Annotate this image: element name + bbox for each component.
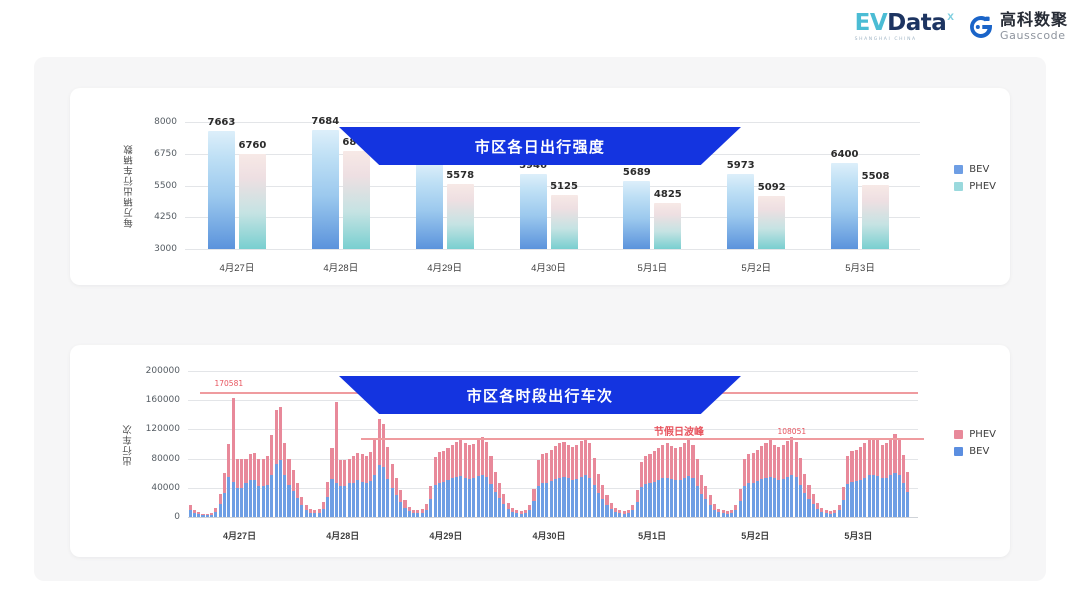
chart2-bar-segment-bev <box>399 502 402 517</box>
chart2-bar-segment-bev <box>292 491 295 517</box>
chart2-bar-segment-bev <box>249 480 252 517</box>
chart2-bar-segment-phev <box>846 456 849 484</box>
chart2-stacked-bar <box>640 462 643 517</box>
chart2-bar-segment-phev <box>876 440 879 476</box>
chart2-stacked-bar <box>760 446 763 517</box>
chart2-bar-segment-bev <box>442 482 445 517</box>
chart2-bar-segment-phev <box>906 472 909 492</box>
chart1-x-tick-label: 4月27日 <box>219 260 254 274</box>
chart2-bar-segment-phev <box>786 441 789 477</box>
chart2-bar-segment-bev <box>795 477 798 517</box>
chart1-bar-group: 76636760 <box>208 122 266 249</box>
chart2-stacked-bar <box>661 445 664 517</box>
chart2-stacked-bar <box>408 507 411 517</box>
chart2-bar-segment-bev <box>382 467 385 517</box>
chart2-bar-segment-bev <box>275 464 278 517</box>
chart2-bar-segment-bev <box>893 473 896 517</box>
chart2-stacked-bar <box>279 407 282 517</box>
chart2-bar-segment-phev <box>756 450 759 481</box>
chart2-bar-segment-phev <box>464 443 467 478</box>
chart2-stacked-bar <box>859 447 862 517</box>
chart2-stacked-bar <box>790 437 793 517</box>
chart2-bar-segment-bev <box>339 486 342 517</box>
chart2-bar-segment-bev <box>189 510 192 517</box>
chart2-bar-segment-phev <box>300 497 303 506</box>
chart2-stacked-bar <box>683 443 686 517</box>
chart2-bar-segment-bev <box>223 493 226 517</box>
chart2-bar-segment-phev <box>253 453 256 480</box>
chart2-stacked-bar <box>335 402 338 517</box>
chart2-bar-segment-phev <box>868 439 871 476</box>
chart2-bar-segment-phev <box>266 456 269 485</box>
chart1-bar-value-label: 5125 <box>550 181 578 192</box>
chart2-bar-segment-bev <box>550 481 553 517</box>
chart2-bar-segment-bev <box>489 484 492 517</box>
chart2-title-banner: 市区各时段出行车次 <box>339 376 741 414</box>
chart2-bar-segment-phev <box>257 459 260 486</box>
chart2-bar-segment-phev <box>326 482 329 497</box>
chart2-bar-segment-phev <box>481 437 484 475</box>
chart2-stacked-bar <box>825 510 828 517</box>
chart2-bar-segment-phev <box>442 451 445 482</box>
chart2-stacked-bar <box>369 452 372 517</box>
chart2-stacked-bar <box>257 459 260 517</box>
chart2-stacked-bar <box>739 489 742 517</box>
chart2-stacked-bar <box>580 441 583 517</box>
chart2-bar-segment-bev <box>558 478 561 517</box>
chart2-stacked-bar <box>593 458 596 517</box>
chart2-stacked-bar <box>287 459 290 517</box>
chart2-stacked-bar <box>361 454 364 517</box>
chart2-bar-segment-phev <box>219 494 222 504</box>
chart2-bar-segment-phev <box>872 438 875 475</box>
chart2-stacked-bar <box>249 454 252 517</box>
chart2-bar-segment-phev <box>653 451 656 482</box>
chart2-bar-segment-bev <box>687 476 690 517</box>
chart2-stacked-bar <box>838 505 841 517</box>
chart2-stacked-bar <box>614 508 617 517</box>
chart2-bar-segment-phev <box>752 453 755 483</box>
chart2-stacked-bar <box>752 453 755 517</box>
chart2-stacked-bar <box>777 447 780 517</box>
chart2-stacked-bar <box>434 457 437 517</box>
chart2-legend: PHEVBEV <box>954 429 996 457</box>
chart2-stacked-bar <box>846 456 849 517</box>
chart2-bar-segment-bev <box>700 494 703 517</box>
chart2-stacked-bar <box>214 508 217 517</box>
chart1-bar-bev: 7684 <box>312 130 339 249</box>
chart2-x-tick-label: 4月30日 <box>532 529 565 542</box>
chart2-bar-segment-bev <box>807 499 810 517</box>
chart2-stacked-bar <box>481 437 484 517</box>
chart2-bar-segment-bev <box>898 475 901 517</box>
chart2-bar-segment-bev <box>494 492 497 517</box>
chart2-bar-segment-bev <box>403 508 406 517</box>
chart2-bar-segment-phev <box>605 495 608 504</box>
chart2-bar-segment-bev <box>446 480 449 517</box>
chart2-stacked-bar <box>545 453 548 517</box>
chart2-bar-segment-phev <box>597 474 600 493</box>
chart1-legend-label: PHEV <box>969 181 996 192</box>
chart2-x-tick-label: 5月3日 <box>844 529 872 542</box>
chart2-title: 市区各时段出行车次 <box>467 385 614 406</box>
chart2-stacked-bar <box>764 443 767 517</box>
chart2-bar-segment-bev <box>253 480 256 517</box>
chart2-bar-segment-bev <box>666 478 669 517</box>
chart2-stacked-bar <box>747 454 750 517</box>
chart2-bar-segment-phev <box>356 453 359 481</box>
chart2-stacked-bar <box>244 459 247 517</box>
chart2-bar-segment-phev <box>279 407 282 460</box>
chart2-stacked-bar <box>562 442 565 517</box>
chart1-title: 市区各日出行强度 <box>475 136 605 157</box>
chart2-stacked-bar <box>240 459 243 517</box>
chart2-stacked-bar <box>403 500 406 517</box>
chart2-bar-segment-phev <box>898 439 901 476</box>
chart2-stacked-bar <box>421 509 424 517</box>
chart2-bar-segment-bev <box>674 480 677 517</box>
chart2-stacked-bar <box>618 510 621 517</box>
chart2-bar-segment-phev <box>287 459 290 485</box>
chart2-stacked-bar <box>605 495 608 517</box>
chart2-bar-segment-bev <box>850 482 853 517</box>
chart2-bar-segment-bev <box>661 478 664 517</box>
chart2-bar-segment-bev <box>846 484 849 517</box>
chart2-bar-segment-bev <box>713 510 716 517</box>
chart2-stacked-bar <box>756 450 759 517</box>
chart2-legend-swatch-bev <box>954 447 963 456</box>
chart2-stacked-bar <box>885 443 888 517</box>
chart2-stacked-bar <box>266 456 269 517</box>
chart2-bar-segment-bev <box>786 477 789 517</box>
chart2-bar-segment-phev <box>691 445 694 479</box>
chart2-stacked-bar <box>438 452 441 517</box>
chart2-bar-segment-phev <box>244 459 247 484</box>
chart2-stacked-bar <box>769 438 772 517</box>
chart2-bar-segment-bev <box>769 477 772 517</box>
chart1-bar-value-label: 7684 <box>311 116 339 127</box>
chart2-stacked-bar <box>425 504 428 517</box>
chart1-bar-group: 64005508 <box>831 122 889 249</box>
chart2-bar-segment-phev <box>679 447 682 480</box>
chart2-bar-segment-phev <box>661 445 664 479</box>
chart2-y-tick-label: 160000 <box>126 395 180 405</box>
chart2-bar-segment-phev <box>434 457 437 485</box>
chart2-bar-segment-bev <box>330 479 333 517</box>
chart2-bar-segment-bev <box>532 501 535 517</box>
chart2-bar-segment-phev <box>365 456 368 484</box>
chart2-stacked-bar <box>511 508 514 517</box>
chart2-bar-segment-bev <box>528 510 531 517</box>
chart2-bar-segment-bev <box>348 483 351 517</box>
chart2-stacked-bar <box>584 438 587 517</box>
chart2-bar-segment-bev <box>270 475 273 517</box>
chart2-stacked-bar <box>868 439 871 517</box>
chart2-stacked-bar <box>262 459 265 517</box>
chart2-stacked-bar <box>502 494 505 517</box>
chart2-bar-segment-phev <box>236 459 239 488</box>
chart2-legend-label: PHEV <box>969 429 996 440</box>
chart2-stacked-bar <box>472 444 475 517</box>
chart1-bar-bev: 6400 <box>831 163 858 249</box>
chart2-bar-segment-phev <box>227 444 230 477</box>
chart2-stacked-bar <box>687 440 690 517</box>
chart2-bar-segment-bev <box>507 509 510 517</box>
chart1-bar-value-label: 6400 <box>831 149 859 160</box>
chart2-stacked-bar <box>812 494 815 517</box>
chart1-bar-bev: 7663 <box>208 131 235 249</box>
chart2-bar-segment-bev <box>863 478 866 517</box>
chart2-bar-segment-bev <box>240 488 243 517</box>
chart2-stacked-bar <box>515 510 518 517</box>
chart2-y-tick-label: 80000 <box>126 454 180 464</box>
chart2-stacked-bar <box>588 443 591 517</box>
chart2-bar-segment-phev <box>541 454 544 483</box>
chart2-x-tick-label: 4月28日 <box>326 529 359 542</box>
chart2-bar-segment-bev <box>631 510 634 517</box>
chart2-bar-segment-bev <box>287 485 290 517</box>
chart2-bar-segment-bev <box>773 478 776 517</box>
chart1-legend-item-phev: PHEV <box>954 181 996 192</box>
chart2-bar-segment-bev <box>244 483 247 517</box>
chart2-stacked-bar <box>446 448 449 517</box>
chart2-bar-segment-phev <box>747 454 750 483</box>
chart1-bar-phev: 6866 <box>343 151 370 249</box>
chart1-gridline <box>185 249 920 250</box>
chart2-legend-swatch-phev <box>954 430 963 439</box>
chart2-stacked-bar <box>489 456 492 517</box>
chart2-bar-segment-bev <box>902 483 905 517</box>
chart2-bar-segment-bev <box>734 510 737 517</box>
chart2-stacked-bar <box>631 505 634 517</box>
chart2-bar-segment-phev <box>438 452 441 483</box>
chart2-bar-segment-phev <box>855 450 858 481</box>
chart2-bar-segment-bev <box>575 479 578 517</box>
chart2-bar-segment-bev <box>747 483 750 517</box>
chart2-bar-segment-phev <box>881 445 884 479</box>
chart1-bar-value-label: 5508 <box>862 171 890 182</box>
chart2-bar-segment-bev <box>876 476 879 517</box>
chart1-bar-phev: 5578 <box>447 184 474 249</box>
chart2-bar-segment-bev <box>679 480 682 517</box>
chart2-stacked-bar <box>507 503 510 517</box>
chart2-stacked-bar <box>485 442 488 517</box>
chart2-bar-segment-bev <box>464 478 467 517</box>
chart2-bar-segment-bev <box>782 479 785 517</box>
chart2-bar-segment-bev <box>545 483 548 517</box>
chart2-legend-item-bev: BEV <box>954 446 996 457</box>
chart2-bar-segment-phev <box>240 459 243 488</box>
chart2-bar-segment-phev <box>571 447 574 480</box>
chart2-stacked-bar <box>219 494 222 517</box>
chart2-bar-segment-phev <box>373 438 376 475</box>
chart1-y-tick-label: 3000 <box>129 244 177 254</box>
chart1-y-tick-label: 6750 <box>129 149 177 159</box>
chart2-bar-segment-phev <box>399 490 402 502</box>
chart2-bar-segment-bev <box>777 480 780 517</box>
chart2-bar-segment-bev <box>889 475 892 517</box>
chart2-bar-segment-phev <box>902 455 905 483</box>
chart2-annotation-label-holiday: 节假日波峰 <box>654 423 704 438</box>
chart2-bar-segment-phev <box>782 445 785 479</box>
chart2-stacked-bar <box>412 510 415 517</box>
evdata-data-text: Data <box>887 12 946 35</box>
chart2-bar-segment-bev <box>601 499 604 517</box>
chart2-bar-segment-phev <box>700 475 703 493</box>
chart1-legend-swatch-bev <box>954 165 963 174</box>
chart2-bar-segment-bev <box>356 480 359 517</box>
chart2-bar-segment-phev <box>562 442 565 477</box>
chart2-stacked-bar <box>795 442 798 517</box>
chart2-stacked-bar <box>734 505 737 517</box>
chart2-stacked-bar <box>898 439 901 517</box>
chart2-bar-segment-phev <box>550 450 553 481</box>
chart2-bar-segment-phev <box>403 500 406 507</box>
chart1-bar-phev: 5092 <box>758 196 785 249</box>
chart2-bar-segment-bev <box>541 483 544 517</box>
chart1-x-tick-label: 5月3日 <box>845 260 875 274</box>
chart1-card: 每万辆出行车辆数30004250550067508000766367604月27… <box>70 88 1010 285</box>
chart2-x-axis-line <box>188 517 918 518</box>
chart2-bar-segment-bev <box>868 475 871 517</box>
chart2-bar-segment-bev <box>283 475 286 517</box>
chart2-bar-segment-bev <box>262 486 265 517</box>
chart2-bar-segment-bev <box>799 485 802 517</box>
chart2-x-tick-label: 4月29日 <box>429 529 462 542</box>
chart2-stacked-bar <box>459 440 462 517</box>
chart2-bar-segment-phev <box>386 447 389 479</box>
chart2-bar-segment-bev <box>451 478 454 517</box>
chart2-bar-segment-phev <box>545 453 548 483</box>
evdata-logo: EV Data x SHANGHAI CHINA <box>855 12 954 42</box>
chart2-bar-segment-phev <box>537 460 540 486</box>
chart2-bar-segment-bev <box>881 478 884 517</box>
chart2-stacked-bar <box>601 485 604 517</box>
chart2-bar-segment-phev <box>348 459 351 484</box>
chart2-bar-segment-phev <box>283 443 286 476</box>
chart2-bar-segment-phev <box>696 459 699 485</box>
chart2-bar-segment-phev <box>640 462 643 488</box>
chart2-bar-segment-bev <box>554 479 557 517</box>
chart1-plot: 每万辆出行车辆数30004250550067508000766367604月27… <box>70 88 1010 285</box>
gausscode-wordmark: 高科数聚 Gausscode <box>1000 13 1068 41</box>
chart2-stacked-bar <box>773 445 776 517</box>
chart2-stacked-bar <box>348 459 351 517</box>
chart2-bar-segment-bev <box>906 492 909 517</box>
chart2-stacked-bar <box>906 472 909 517</box>
chart2-bar-segment-bev <box>605 505 608 517</box>
chart2-stacked-bar <box>541 454 544 517</box>
chart2-bar-segment-bev <box>597 493 600 517</box>
chart2-stacked-bar <box>494 472 497 517</box>
chart1-bar-phev: 5125 <box>551 195 578 249</box>
chart2-stacked-bar <box>850 451 853 517</box>
chart2-bar-segment-bev <box>812 504 815 517</box>
chart2-stacked-bar <box>468 445 471 517</box>
chart2-bar-segment-phev <box>683 443 686 478</box>
chart1-bar-value-label: 7663 <box>208 117 236 128</box>
chart2-bar-segment-phev <box>580 441 583 477</box>
chart2-bar-segment-phev <box>666 443 669 477</box>
chart2-stacked-bar <box>833 510 836 517</box>
chart2-bar-segment-phev <box>764 443 767 477</box>
chart2-bar-segment-phev <box>554 446 557 479</box>
chart2-bar-segment-bev <box>236 488 239 517</box>
chart2-y-tick-label: 120000 <box>126 424 180 434</box>
chart2-stacked-bar <box>455 442 458 517</box>
chart2-bar-segment-phev <box>485 442 488 477</box>
chart2-bar-segment-bev <box>571 480 574 517</box>
chart2-stacked-bar <box>352 456 355 517</box>
chart2-bar-segment-phev <box>378 419 381 465</box>
chart2-bar-segment-phev <box>777 447 780 480</box>
chart2-stacked-bar <box>893 434 896 517</box>
chart2-stacked-bar <box>610 503 613 517</box>
chart2-stacked-bar <box>524 510 527 517</box>
chart2-bar-segment-phev <box>795 442 798 477</box>
chart2-bar-segment-bev <box>790 475 793 517</box>
chart2-bar-segment-phev <box>429 486 432 500</box>
chart2-stacked-bar <box>386 447 389 517</box>
chart2-stacked-bar <box>872 438 875 517</box>
chart2-bar-segment-bev <box>459 476 462 517</box>
chart2-peak-value-label: 170581 <box>214 379 243 388</box>
chart2-bar-segment-bev <box>300 505 303 517</box>
chart2-bar-segment-phev <box>859 447 862 480</box>
chart2-stacked-bar <box>223 473 226 517</box>
chart2-stacked-bar <box>743 459 746 517</box>
chart2-bar-segment-bev <box>257 486 260 517</box>
chart2-bar-segment-bev <box>696 486 699 517</box>
chart2-stacked-bar <box>902 455 905 517</box>
chart2-bar-segment-bev <box>842 500 845 517</box>
chart2-bar-segment-bev <box>859 480 862 517</box>
chart2-bar-segment-phev <box>739 489 742 501</box>
chart2-bar-segment-bev <box>369 481 372 517</box>
chart2-bar-segment-phev <box>584 438 587 475</box>
chart2-bar-segment-bev <box>266 485 269 517</box>
chart2-bar-segment-phev <box>262 459 265 487</box>
chart2-bar-segment-bev <box>683 478 686 517</box>
chart2-bar-segment-phev <box>489 456 492 484</box>
chart2-stacked-bar <box>786 441 789 517</box>
chart2-bar-segment-phev <box>472 444 475 478</box>
chart2-bar-segment-phev <box>644 456 647 484</box>
gausscode-logo: 高科数聚 Gausscode <box>968 13 1068 41</box>
chart2-bar-segment-phev <box>636 490 639 502</box>
chart2-stacked-bar <box>296 483 299 517</box>
chart1-bar-value-label: 5689 <box>623 167 651 178</box>
chart2-stacked-bar <box>283 443 286 517</box>
chart2-stacked-bar <box>730 510 733 517</box>
chart2-stacked-bar <box>881 445 884 517</box>
chart1-x-tick-label: 4月29日 <box>427 260 462 274</box>
chart1-legend-swatch-phev <box>954 182 963 191</box>
chart2-stacked-bar <box>464 443 467 517</box>
chart2-stacked-bar <box>799 458 802 517</box>
chart2-bar-segment-bev <box>610 509 613 517</box>
chart2-stacked-bar <box>627 510 630 517</box>
chart2-bar-segment-bev <box>709 505 712 517</box>
evdata-ev-text: EV <box>855 12 888 35</box>
chart2-bar-segment-bev <box>760 479 763 517</box>
chart2-bar-segment-phev <box>670 446 673 479</box>
chart2-bar-segment-bev <box>872 475 875 517</box>
chart2-annotation-line-holiday <box>361 438 924 439</box>
chart2-bar-segment-phev <box>532 489 535 501</box>
chart2-bar-segment-phev <box>812 494 815 504</box>
chart2-bar-segment-phev <box>743 459 746 486</box>
